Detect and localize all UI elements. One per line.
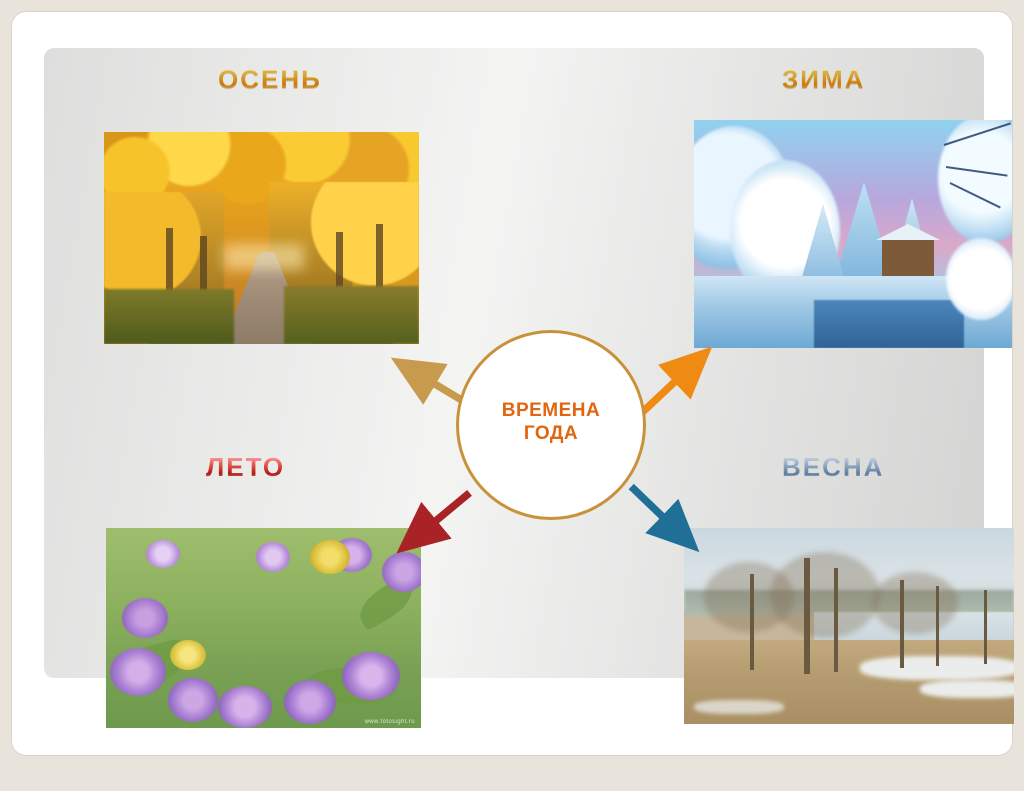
season-image-spring (684, 528, 1014, 724)
arrow-to-spring (631, 487, 688, 542)
season-image-autumn (104, 132, 419, 344)
arrow-to-autumn (404, 365, 468, 403)
center-label-line1: ВРЕМЕНА (502, 400, 601, 421)
image-watermark-summer: www.fotosight.ru (365, 719, 415, 725)
center-label-line2: ГОДА (524, 423, 578, 444)
season-image-winter (694, 120, 1012, 348)
slide-card: ОСЕНЬ ЗИМА ЛЕТО ВЕСНА (12, 12, 1012, 755)
diagram-panel: ОСЕНЬ ЗИМА ЛЕТО ВЕСНА (44, 48, 984, 678)
season-label-spring: ВЕСНА (782, 452, 884, 483)
season-label-autumn: ОСЕНЬ (218, 64, 322, 95)
season-label-winter: ЗИМА (782, 64, 865, 95)
center-label: ВРЕМЕНА ГОДА (459, 399, 643, 445)
center-node: ВРЕМЕНА ГОДА (456, 330, 646, 520)
season-label-summer: ЛЕТО (206, 452, 285, 483)
season-image-summer: www.fotosight.ru (106, 528, 421, 728)
